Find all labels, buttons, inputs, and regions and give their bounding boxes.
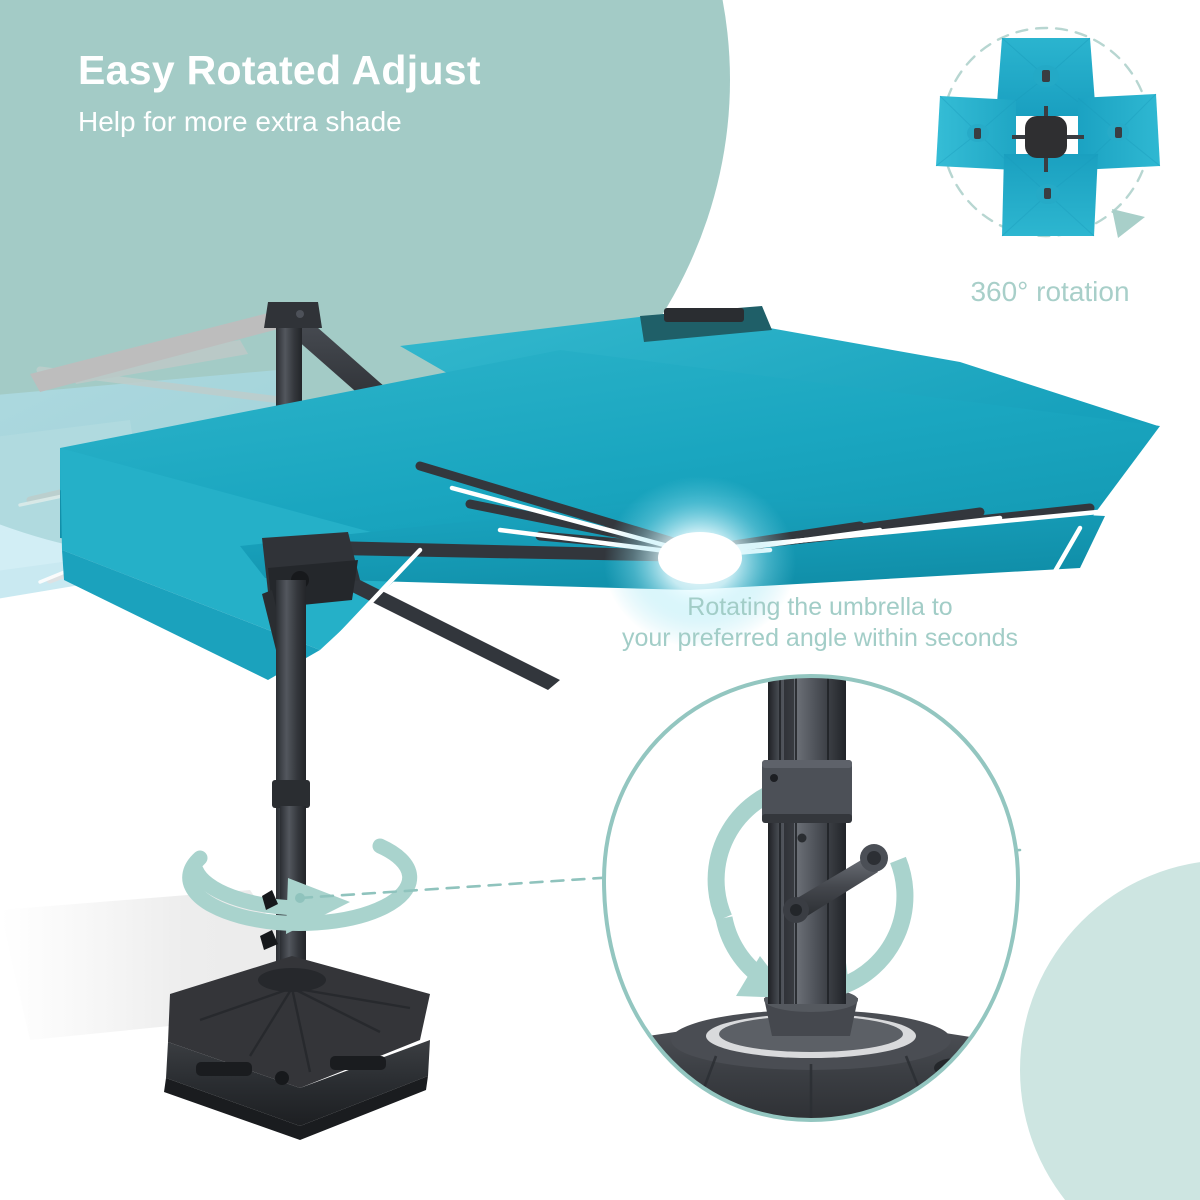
product-infographic: Easy Rotated Adjust Help for more extra … xyxy=(0,0,1200,1200)
inset-caption-line-1: Rotating the umbrella to xyxy=(560,592,1080,623)
inset-collar xyxy=(762,760,852,823)
canopy-bottom xyxy=(1002,154,1098,236)
rotation-arrowhead xyxy=(1112,209,1145,238)
rotation-diagram-svg xyxy=(912,14,1188,280)
inset-caption-line-2: your preferred angle within seconds xyxy=(560,623,1080,654)
crank-detail-inset xyxy=(596,668,1026,1136)
pole-collar xyxy=(272,780,310,808)
umbrella-base xyxy=(164,956,430,1140)
header-text-group: Easy Rotated Adjust Help for more extra … xyxy=(78,48,698,138)
rotation-diagram xyxy=(912,14,1188,280)
page-title: Easy Rotated Adjust xyxy=(78,48,698,93)
crank-detail-svg xyxy=(596,668,1026,1136)
page-subtitle: Help for more extra shade xyxy=(78,107,698,138)
inset-caption: Rotating the umbrella to your preferred … xyxy=(560,592,1080,654)
